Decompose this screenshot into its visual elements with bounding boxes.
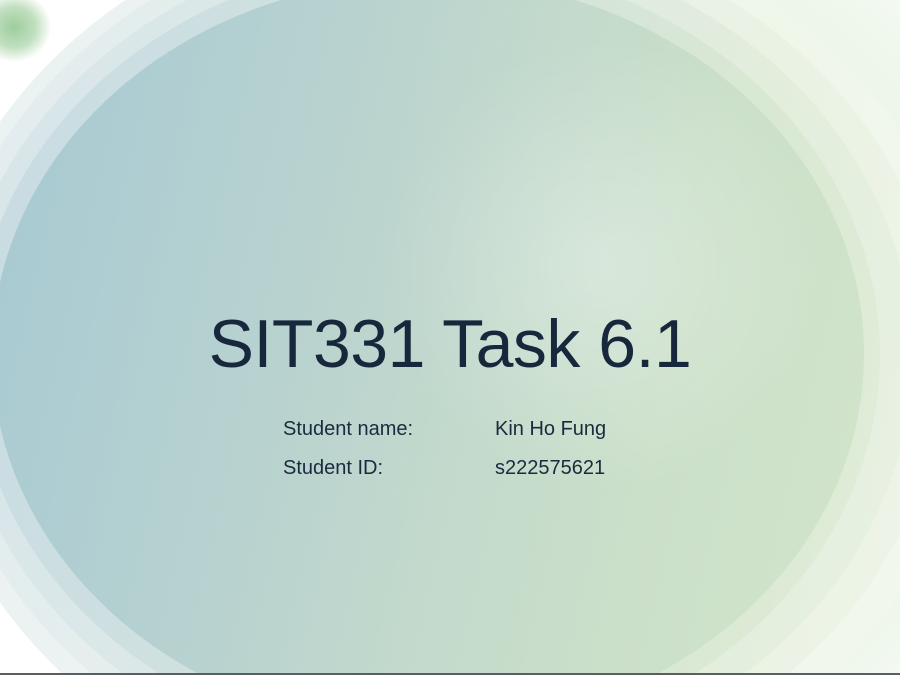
student-id-row: Student ID: s222575621 bbox=[283, 457, 606, 496]
student-id-label: Student ID: bbox=[283, 457, 495, 480]
student-name-value: Kin Ho Fung bbox=[495, 418, 606, 441]
student-name-row: Student name: Kin Ho Fung bbox=[283, 418, 606, 457]
student-details: Student name: Kin Ho Fung Student ID: s2… bbox=[283, 418, 606, 496]
student-id-value: s222575621 bbox=[495, 457, 605, 480]
slide-title: SIT331 Task 6.1 bbox=[0, 305, 900, 383]
student-name-label: Student name: bbox=[283, 418, 495, 441]
slide-content: SIT331 Task 6.1 Student name: Kin Ho Fun… bbox=[0, 0, 900, 675]
title-slide: SIT331 Task 6.1 Student name: Kin Ho Fun… bbox=[0, 0, 900, 675]
